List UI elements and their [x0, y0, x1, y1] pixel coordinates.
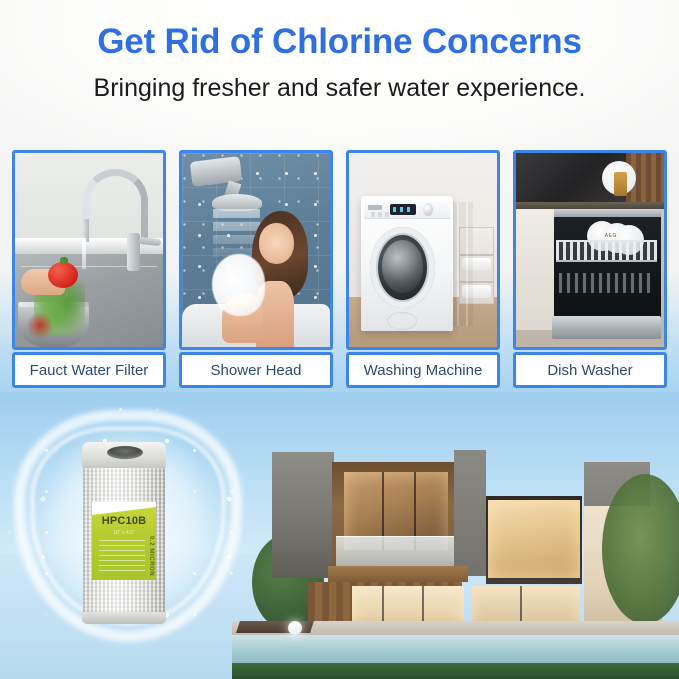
label-size-text: 10" x 4.5" — [92, 530, 156, 536]
washing-machine-scene-image — [349, 153, 497, 347]
caption-washing-machine[interactable]: Washing Machine — [346, 352, 500, 388]
panel-faucet-water-filter[interactable] — [12, 150, 166, 350]
hero-section: HPC10B 10" x 4.5" 0.2 MICRON — [0, 392, 679, 679]
washer-display-shape — [390, 204, 415, 215]
filter-cartridge-product: HPC10B 10" x 4.5" 0.2 MICRON — [83, 442, 165, 624]
caption-faucet-water-filter[interactable]: Fauct Water Filter — [12, 352, 166, 388]
shower-scene-image — [182, 153, 330, 347]
panel-dish-washer[interactable]: AEG — [513, 150, 667, 350]
dishwasher-door-shape — [552, 316, 662, 339]
dishwasher-scene-image: AEG — [516, 153, 664, 347]
cartridge-label: HPC10B 10" x 4.5" 0.2 MICRON — [92, 502, 156, 580]
caption-shower-head[interactable]: Shower Head — [179, 352, 333, 388]
water-stream-shape — [82, 238, 86, 269]
panel-washing-machine[interactable] — [346, 150, 500, 350]
label-micron-text: 0.2 MICRON — [148, 536, 154, 576]
faucet-spout-shape — [83, 169, 148, 239]
garden-light-shape — [288, 621, 302, 635]
modern-house-illustration — [232, 414, 679, 679]
caption-row: Fauct Water Filter Shower Head Washing M… — [12, 352, 667, 388]
appliance-brand-mark: AEG — [605, 233, 617, 239]
product-infographic: Get Rid of Chlorine Concerns Bringing fr… — [0, 0, 679, 679]
label-model-text: HPC10B — [92, 515, 156, 527]
feature-panel-row: AEG — [12, 150, 667, 350]
caption-dish-washer[interactable]: Dish Washer — [513, 352, 667, 388]
dishwasher-rack-shape — [556, 240, 657, 261]
page-title: Get Rid of Chlorine Concerns — [0, 22, 679, 62]
faucet-scene-image — [15, 153, 163, 347]
cartridge-center-hole — [107, 446, 143, 459]
panel-shower-head[interactable] — [179, 150, 333, 350]
tomato-shape — [48, 262, 78, 288]
label-fineprint-lines — [99, 540, 145, 574]
foam-shape — [212, 254, 265, 316]
page-subtitle: Bringing fresher and safer water experie… — [0, 74, 679, 103]
swimming-pool-shape — [232, 635, 679, 665]
